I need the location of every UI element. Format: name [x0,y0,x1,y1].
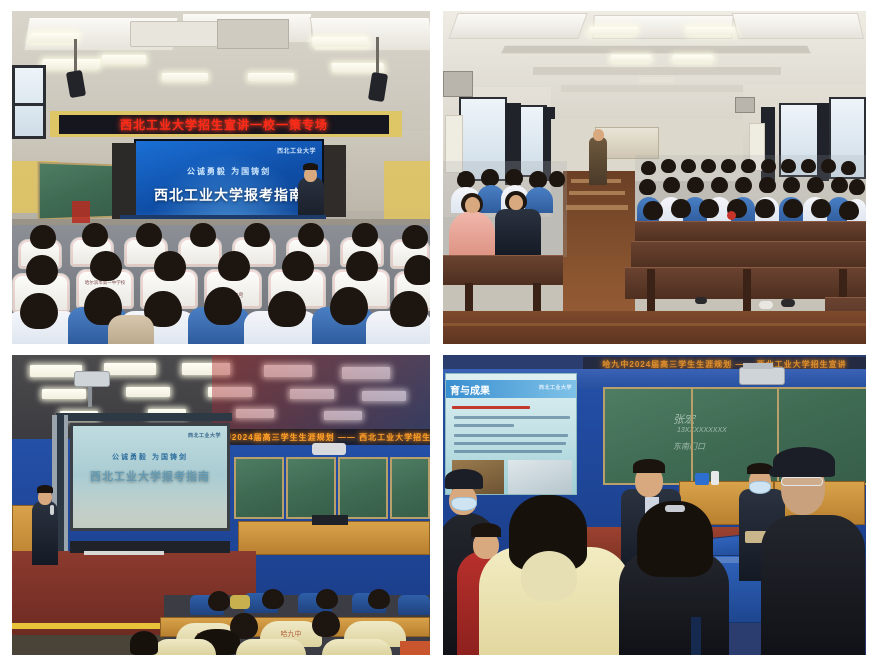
attendee-cap-foreground [761,515,865,655]
slide-subtitle: 公诚勇毅 为国铸剑 [73,452,227,462]
led-banner-top-left: 西北工业大学招生宣讲一校一策专场 [59,115,389,134]
ceiling-projector-bottom-right [739,367,785,385]
blackboard-bottom-left-2 [286,457,336,519]
ceiling-projector-bottom-left [74,371,110,387]
parent-dark-coat [495,209,541,257]
red-flower-detail [727,211,736,220]
photo-bottom-right: 哈九中2024届高三学生生涯规划 —— 西北工业大学招生宣讲 育与成果 西北工业… [443,355,866,655]
chalk-text-location: 东南门口 [673,441,705,452]
face-mask [749,481,771,494]
blackboard-bottom-left-4 [390,457,430,519]
slide-logo-text: 西北工业大学 [539,384,572,391]
photo-top-right [443,11,866,344]
photo-collage: 西北工业大学招生宣讲一校一策专场 西北工业大学 公诚勇毅 为国铸剑 西北工业大学… [0,0,876,657]
presenter-bottom-left [32,501,58,565]
blackboard-bottom-left-1 [234,457,284,519]
slide-subtitle: 公诚勇毅 为国铸剑 [136,166,322,177]
wall-camera [312,443,346,455]
slide-title: 西北工业大学报考指南 [73,468,227,484]
staff-in-aisle [589,137,607,185]
projection-screen-bottom-left: 西北工业大学 公诚勇毅 为国铸剑 西北工业大学报考指南 [70,423,230,531]
slide-logo-text: 西北工业大学 [277,146,316,155]
slide-logo-text: 西北工业大学 [188,432,221,439]
chalk-text-number: 13XXXXXXXXX [677,427,727,434]
slide-heading: 育与成果 [450,382,490,397]
microphone [50,505,54,515]
led-banner-text: 哈九中2024届高三学生生涯规划 —— 西北工业大学招生宣讲 [602,359,846,370]
led-banner-text: 哈九中2024届高三学生生涯规划 —— 西北工业大学招生宣讲 [224,432,430,443]
slide-title: 西北工业大学报考指南 [136,185,322,205]
glasses [781,477,823,486]
parent-pink-coat [449,211,495,257]
blackboard-bottom-left-3 [338,457,388,519]
led-banner-text: 西北工业大学招生宣讲一校一策专场 [120,116,328,133]
hair-clip [665,505,685,512]
photo-bottom-left: 哈九中2024届高三学生生涯规划 —— 西北工业大学招生宣讲 西北工业大学 公诚… [12,355,430,655]
photo-top-left: 西北工业大学招生宣讲一校一策专场 西北工业大学 公诚勇毅 为国铸剑 西北工业大学… [12,11,430,344]
